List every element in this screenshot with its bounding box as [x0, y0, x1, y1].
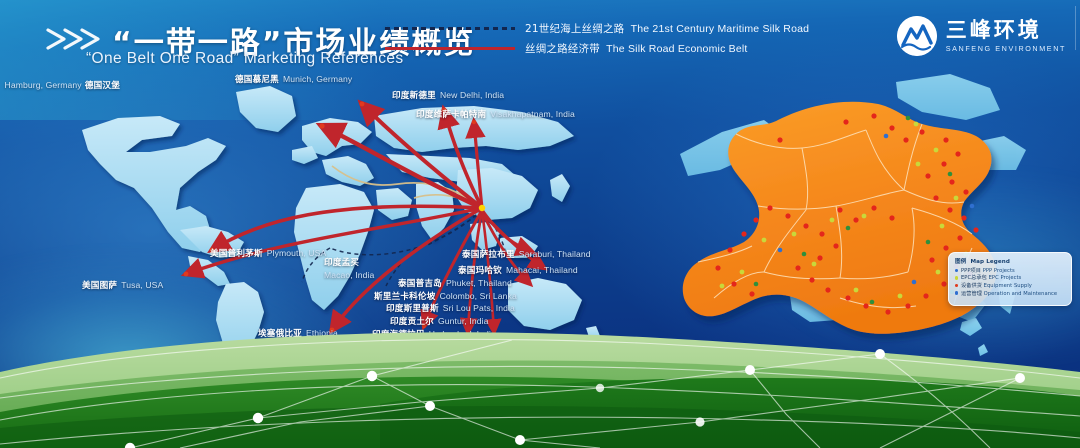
china-map-legend: 图例 Map Legend PPP项目 PPP Projects EPC总承包 …: [948, 252, 1072, 306]
map-label-new-delhi: 印度新德里New Delhi, India: [392, 88, 504, 102]
map-label-mumbai: 印度孟买Macao, India: [324, 256, 374, 280]
route-legend-label: 21世纪海上丝绸之路 The 21st Century Maritime Sil…: [525, 21, 809, 36]
route-legend-item: 21世纪海上丝绸之路 The 21st Century Maritime Sil…: [385, 18, 825, 38]
continent-shapes: [82, 86, 600, 366]
route-legend-item: 丝绸之路经济带 The Silk Road Economic Belt: [385, 38, 825, 58]
map-label-mahacai: 泰国玛哈钦Mahacai, Thailand: [458, 263, 578, 277]
china-legend-item: EPC总承包 EPC Projects: [955, 274, 1066, 282]
route-legend: 21世纪海上丝绸之路 The 21st Century Maritime Sil…: [385, 18, 825, 58]
solid-line-swatch: [385, 43, 515, 53]
china-map: [660, 58, 1060, 368]
china-legend-title: 图例 Map Legend: [955, 257, 1066, 265]
brand-logo: 三峰环境 SANFENG ENVIRONMENT: [897, 14, 1066, 58]
route-legend-label: 丝绸之路经济带 The Silk Road Economic Belt: [525, 41, 748, 56]
legend-dot-epc: [955, 276, 958, 279]
china-legend-label: EPC总承包 EPC Projects: [961, 274, 1021, 281]
china-legend-label: 设备供货 Equipment Supply: [961, 282, 1032, 289]
legend-dot-operation: [955, 291, 958, 294]
china-legend-item: 设备供货 Equipment Supply: [955, 282, 1066, 290]
poster-canvas: “一带一路”市场业绩概览 “One Belt One Road” Marketi…: [0, 0, 1080, 448]
legend-dot-ppp: [955, 269, 958, 272]
china-legend-label: 运营管理 Operation and Maintenance: [961, 290, 1057, 297]
china-legend-item: PPP项目 PPP Projects: [955, 267, 1066, 275]
map-label-phuket: 泰国普吉岛Phuket, Thailand: [398, 276, 512, 290]
brand-name-cn: 三峰环境: [946, 20, 1066, 41]
brand-name-en: SANFENG ENVIRONMENT: [946, 44, 1066, 53]
green-hills-footer: [0, 328, 1080, 448]
logo-divider: [1075, 6, 1076, 50]
map-label-visakhapatnam: 印度维萨卡帕特南Visakhapatnam, India: [416, 107, 575, 121]
triple-chevron-right-icon: [44, 26, 108, 52]
china-legend-item: 运营管理 Operation and Maintenance: [955, 289, 1066, 297]
map-label-sri-lou-pats: 印度斯里普斯Sri Lou Pats, India: [386, 301, 515, 315]
map-label-saraburi: 泰国萨拉布里Saraburi, Thailand: [462, 247, 591, 261]
china-legend-label: PPP项目 PPP Projects: [961, 267, 1015, 274]
map-label-plymouth: 美国普利茅斯Plymouth, USA: [210, 246, 326, 260]
dashed-line-swatch: [385, 23, 515, 33]
map-label-tusa: 美国图萨Tusa, USA: [82, 278, 163, 292]
map-label-hamburg: Hamburg, Germany 德国汉堡: [0, 78, 120, 92]
sanfeng-mountain-wave-icon: [897, 16, 937, 56]
map-label-guntur: 印度贡土尔Guntur, India: [390, 314, 489, 328]
legend-dot-equipment: [955, 284, 958, 287]
map-label-munich: 德国慕尼黑Munich, Germany: [235, 72, 352, 86]
